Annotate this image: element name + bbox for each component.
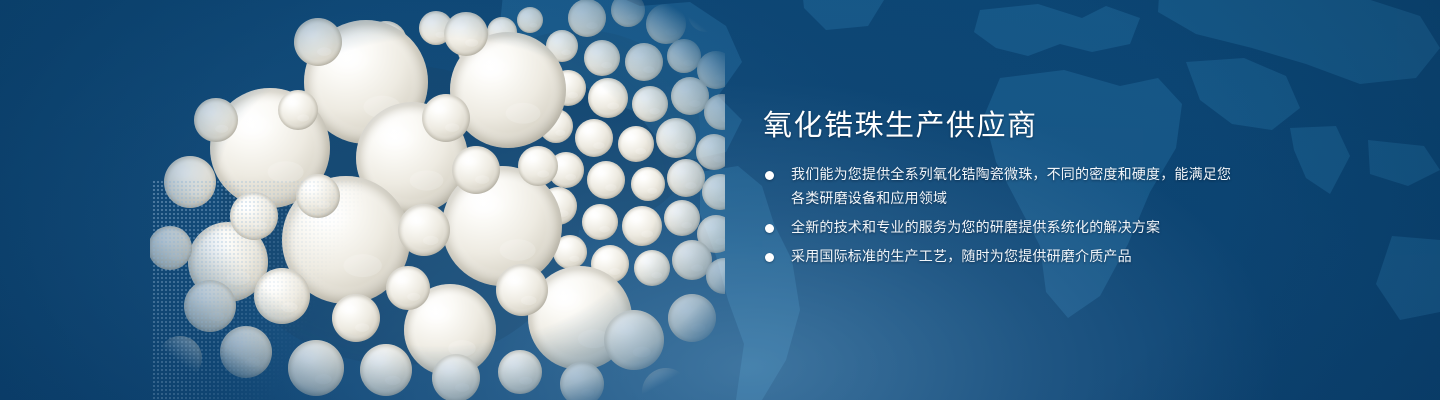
bullet-marker-icon: [765, 224, 774, 233]
bullet-marker-icon: [765, 253, 774, 262]
feature-bullet-list: 我们能为您提供全系列氧化锆陶瓷微珠，不同的密度和硬度，能满足您各类研磨设备和应用…: [763, 163, 1233, 269]
banner-headline: 氧化锆珠生产供应商: [763, 106, 1233, 144]
feature-bullet-item: 采用国际标准的生产工艺，随时为您提供研磨介质产品: [763, 245, 1233, 269]
bullet-marker-icon: [765, 171, 774, 180]
feature-bullet-text: 全新的技术和专业的服务为您的研磨提供系统化的解决方案: [791, 216, 1233, 240]
banner-copy: 氧化锆珠生产供应商 我们能为您提供全系列氧化锆陶瓷微珠，不同的密度和硬度，能满足…: [763, 106, 1233, 269]
feature-bullet-text: 采用国际标准的生产工艺，随时为您提供研磨介质产品: [791, 245, 1233, 269]
zirconia-bead-cluster-image: [150, 0, 725, 400]
feature-bullet-text: 我们能为您提供全系列氧化锆陶瓷微珠，不同的密度和硬度，能满足您各类研磨设备和应用…: [791, 163, 1233, 211]
feature-bullet-item: 全新的技术和专业的服务为您的研磨提供系统化的解决方案: [763, 216, 1233, 240]
hero-banner: 氧化锆珠生产供应商 我们能为您提供全系列氧化锆陶瓷微珠，不同的密度和硬度，能满足…: [0, 0, 1440, 400]
feature-bullet-item: 我们能为您提供全系列氧化锆陶瓷微珠，不同的密度和硬度，能满足您各类研磨设备和应用…: [763, 163, 1233, 211]
